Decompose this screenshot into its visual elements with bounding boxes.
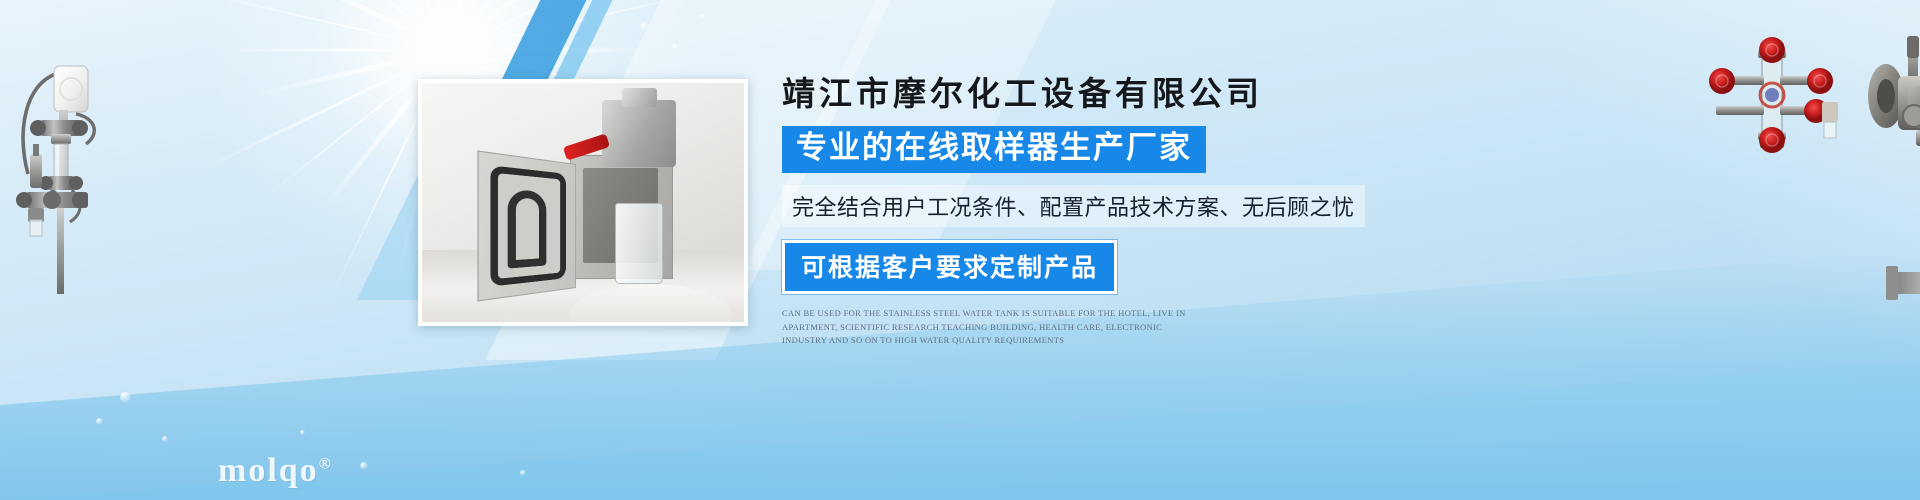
sunburst-ray: [448, 0, 612, 52]
banner-text-block: 靖江市摩尔化工设备有限公司 专业的在线取样器生产厂家 完全结合用户工况条件、配置…: [782, 76, 1402, 348]
subheadline: 完全结合用户工况条件、配置产品技术方案、无后顾之忧: [782, 185, 1365, 227]
english-description: CAN BE USED FOR THE STAINLESS STEEL WATE…: [782, 307, 1202, 348]
cross-valve-illustration: [1700, 36, 1850, 156]
sunburst-ray: [266, 0, 451, 52]
sunburst-ray: [395, 0, 452, 50]
sunburst-ray: [449, 0, 669, 51]
sunburst-ray: [449, 0, 556, 50]
water-droplet-icon: [120, 392, 131, 403]
water-droplet-icon: [640, 22, 649, 31]
headline-badge: 专业的在线取样器生产厂家: [782, 126, 1206, 173]
custom-product-cta[interactable]: 可根据客户要求定制产品: [782, 240, 1117, 294]
registered-mark-icon: ®: [319, 456, 333, 473]
sunburst-ray: [450, 0, 723, 51]
water-droplet-icon: [96, 418, 103, 425]
sunburst-ray: [448, 0, 498, 51]
water-droplet-icon: [300, 430, 305, 435]
flange-valve-illustration: [1862, 30, 1920, 190]
water-droplet-icon: [360, 462, 368, 470]
sunburst-ray: [449, 0, 451, 50]
sunburst-ray: [262, 0, 451, 51]
watermark-logo: molqo®: [218, 452, 333, 490]
water-droplet-icon: [672, 44, 678, 50]
water-droplet-icon: [162, 436, 168, 442]
water-droplet-icon: [520, 470, 526, 476]
water-droplet-icon: [700, 14, 705, 19]
sunburst-ray: [211, 49, 450, 52]
sunburst-ray: [449, 0, 625, 51]
sunburst-ray: [276, 0, 451, 51]
sunburst-ray: [359, 0, 452, 51]
watermark-text: molqo: [218, 452, 319, 489]
sunburst-ray: [202, 49, 451, 171]
sunburst-ray: [181, 0, 451, 51]
bottom-valve-illustration: [1882, 228, 1920, 398]
company-name: 靖江市摩尔化工设备有限公司: [782, 76, 1402, 115]
promotional-banner: 靖江市摩尔化工设备有限公司 专业的在线取样器生产厂家 完全结合用户工况条件、配置…: [0, 0, 1920, 500]
left-equipment-illustration: [10, 22, 200, 312]
sunburst-ray: [450, 48, 657, 53]
product-photo: [418, 79, 748, 326]
